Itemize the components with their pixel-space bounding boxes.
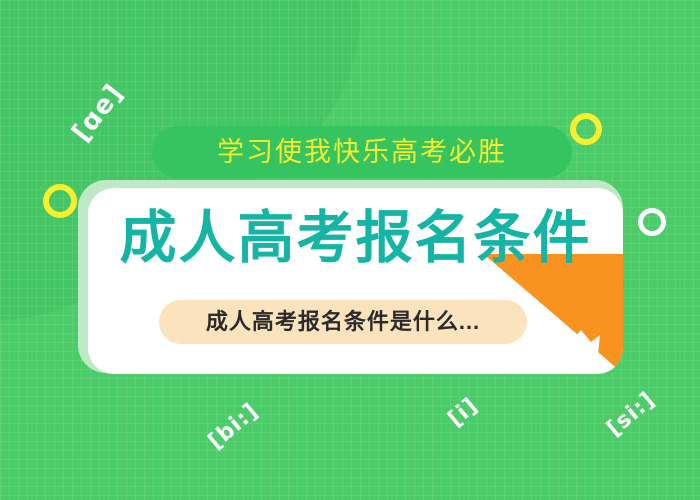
subtitle-pill: 成人高考报名条件是什么... bbox=[159, 300, 527, 344]
phonetic-si: [si:] bbox=[602, 387, 660, 441]
ring-white-right-icon bbox=[638, 208, 666, 236]
phonetic-bi: [bi:] bbox=[204, 399, 264, 455]
crown-icon bbox=[561, 328, 601, 358]
main-card: 成人高考报名条件 成人高考报名条件是什么... bbox=[88, 188, 623, 374]
ring-yellow-top-icon bbox=[570, 113, 602, 145]
phonetic-i: [i] bbox=[444, 393, 484, 432]
ring-yellow-left-icon bbox=[43, 184, 77, 218]
banner-text: 学习使我快乐高考必胜 bbox=[217, 139, 507, 166]
banner-pill: 学习使我快乐高考必胜 bbox=[152, 126, 572, 178]
poster-canvas: [ɑe] [bi:] [i] [si:] 学习使我快乐高考必胜 成人高考报名条件… bbox=[0, 0, 700, 500]
subtitle-text: 成人高考报名条件是什么... bbox=[206, 311, 480, 333]
page-title: 成人高考报名条件 bbox=[88, 210, 623, 267]
